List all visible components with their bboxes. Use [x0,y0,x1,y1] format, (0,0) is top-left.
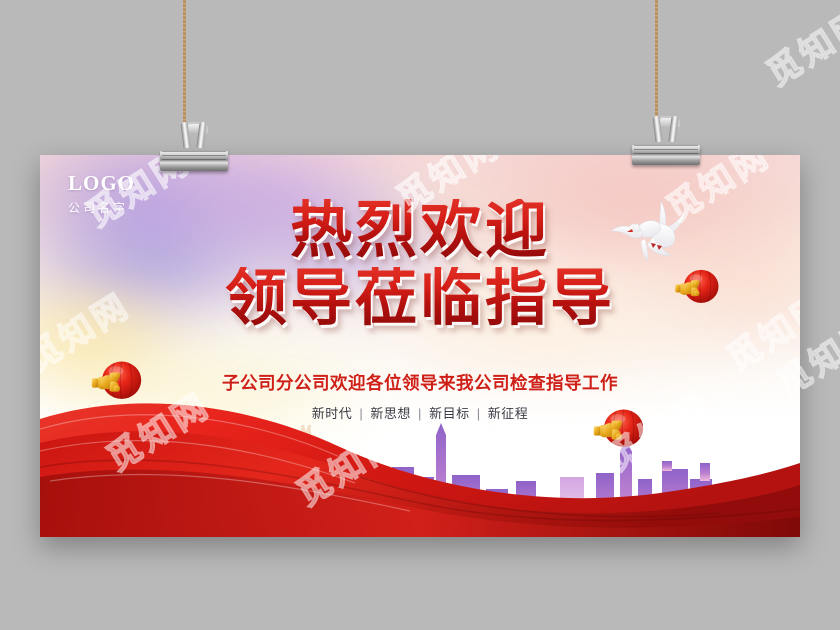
tagline-item-1: 新思想 [370,406,411,421]
title-line-2: 领导莅临指导 [40,267,800,329]
binder-clip-right [632,116,700,165]
title-block: 热烈欢迎 领导莅临指导 [40,199,800,329]
red-silk-ribbon [40,377,800,537]
clip-arms-right [642,116,690,142]
tagline-item-2: 新目标 [429,406,470,421]
tagline-row: 新时代 | 新思想 | 新目标 | 新征程 [40,403,800,422]
tagline-item-3: 新征程 [488,406,529,421]
clip-arms-left [170,122,218,148]
tagline-separator-1: | [418,406,422,421]
tagline-separator-0: | [359,406,363,421]
hanging-rope-right [655,0,658,132]
welcome-banner-poster: LOGO 公司名字 [40,155,800,537]
binder-clip-left [160,122,228,171]
title-line-1: 热烈欢迎 [40,199,800,261]
hanging-rope-left [183,0,186,140]
clip-body-left [160,151,228,171]
watermark-text: 觅知网 [756,0,840,95]
tagline-item-0: 新时代 [312,406,353,421]
tagline-separator-2: | [477,406,481,421]
subtitle-text: 子公司分公司欢迎各位领导来我公司检查指导工作 [40,370,800,395]
logo-text: LOGO [68,173,135,194]
clip-body-right [632,145,700,165]
